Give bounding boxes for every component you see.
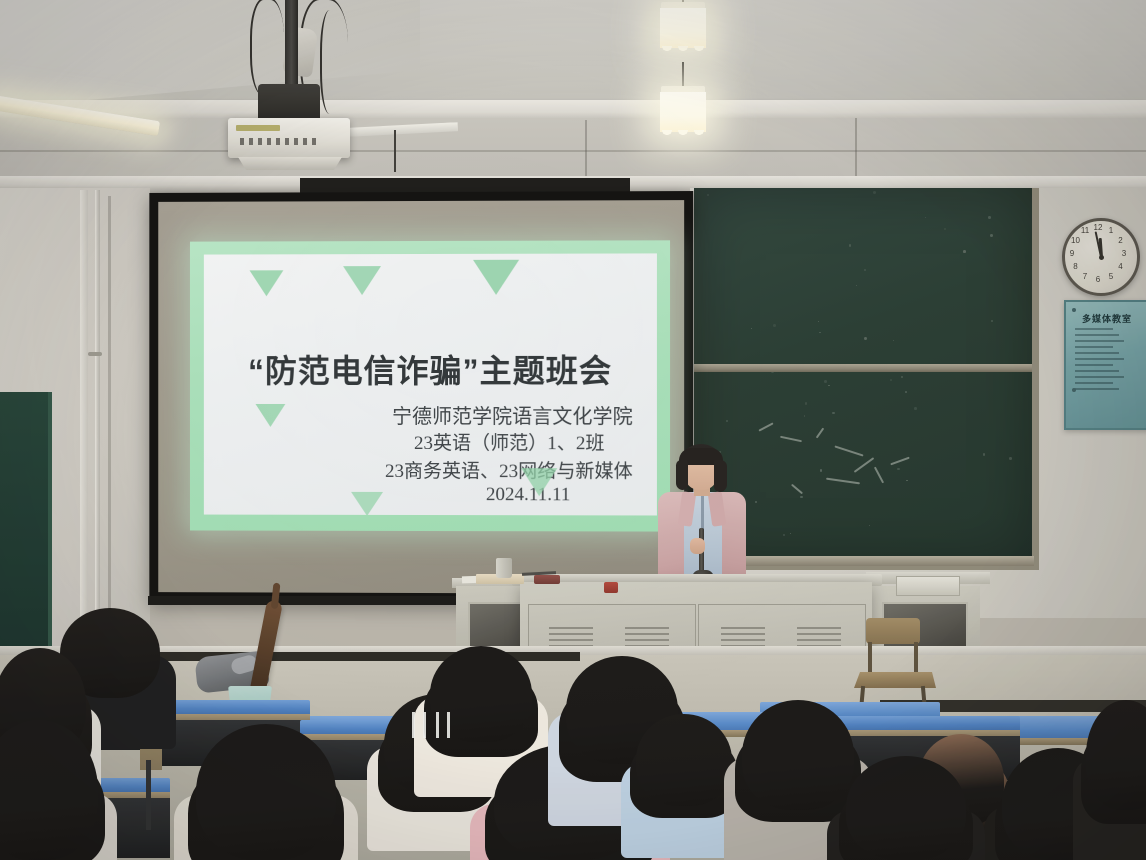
podium-red-cup [604, 582, 618, 593]
chalk-speck [991, 320, 993, 322]
notice-line [1075, 358, 1124, 360]
chalk-mark [874, 467, 884, 484]
chalk-speck [890, 379, 892, 381]
triangle-top-mid-icon [343, 266, 381, 295]
podium-cup [496, 558, 512, 578]
chalk-speck [824, 380, 827, 383]
clock-numeral: 6 [1092, 276, 1104, 284]
projector-mount-bracket [258, 84, 320, 122]
wall-pipe [95, 190, 100, 658]
chalk-speck [897, 468, 900, 471]
projector-screen: “防范电信诈骗”主题班会 宁德师范学院语言文化学院 23英语（师范）1、2班 2… [149, 191, 693, 603]
projector-base [238, 157, 342, 170]
projector-cable [250, 0, 284, 96]
clock-numeral: 4 [1115, 263, 1127, 271]
chalk-speck [1009, 457, 1012, 460]
clock-numeral: 7 [1079, 273, 1091, 281]
notice-line [1075, 334, 1119, 336]
chalk-speck [869, 525, 870, 526]
chalk-speck [804, 415, 806, 417]
hair-clip-icon [410, 712, 454, 738]
wall-seam-vertical-left [585, 120, 587, 180]
teacher-hair-left [676, 460, 688, 490]
chalk-speck [849, 244, 851, 246]
notice-line [1075, 376, 1124, 378]
clock-numeral: 1 [1105, 227, 1117, 235]
student-head [196, 724, 336, 860]
chalk-mark [758, 422, 773, 431]
chalk-speck [963, 250, 966, 253]
clock-numeral: 10 [1069, 237, 1081, 245]
notice-line [1075, 352, 1119, 354]
wall-clock: 121234567891011 [1062, 218, 1140, 296]
pendant-lamp [660, 8, 706, 48]
chalk-speck [905, 391, 907, 393]
chalk-speck [819, 332, 821, 334]
chalk-mark [826, 478, 860, 485]
notice-line [1075, 388, 1119, 390]
podium-eraser [534, 575, 560, 584]
clock-numeral: 3 [1118, 250, 1130, 258]
chalk-speck [988, 216, 991, 219]
left-side-green-board [0, 392, 52, 652]
student-left-pale [0, 720, 98, 860]
notice-line [1075, 382, 1113, 384]
student-head [0, 720, 98, 860]
notice-pin [1072, 308, 1076, 312]
chalk-mark [834, 445, 863, 456]
ceiling-projector [228, 118, 350, 158]
chalk-speck [707, 194, 709, 196]
chair-post [914, 642, 918, 676]
clock-numeral: 9 [1066, 250, 1078, 258]
chair-backrest [866, 618, 920, 644]
desk-leg [146, 760, 151, 830]
chalk-speck [832, 412, 835, 415]
slide-subtitle-institution: 宁德师范学院语言文化学院 [392, 400, 633, 429]
clock-numeral: 11 [1079, 227, 1091, 235]
chalk-speck [773, 324, 776, 327]
chalk-speck [983, 453, 985, 455]
door-handle[interactable] [88, 352, 102, 356]
slide-subtitle-class-1: 23英语（师范）1、2班 [414, 428, 605, 455]
wall-seam-horizontal [0, 150, 1146, 152]
clock-numeral: 2 [1115, 237, 1127, 245]
chalk-speck [893, 340, 894, 341]
teacher-hair-right [714, 460, 727, 492]
chalk-speck [914, 407, 917, 410]
chalk-speck [755, 501, 757, 503]
classroom-photo: 121234567891011 多媒体教室 “防范电信诈骗”主题班会 宁德师范学… [0, 0, 1146, 860]
triangle-top-left-icon [250, 270, 284, 296]
student-head [742, 700, 854, 810]
notice-board-text-lines [1075, 328, 1141, 394]
chalk-speck [864, 337, 867, 340]
projector-mount-pole [285, 0, 298, 92]
chalk-speck [873, 191, 876, 194]
chalk-speck [856, 285, 857, 286]
chalk-speck [864, 269, 865, 270]
student-far-right [1086, 700, 1146, 810]
teacher-hand [690, 538, 705, 554]
podium-tray [896, 576, 960, 596]
wooden-chair[interactable] [852, 618, 938, 710]
chalk-speck [925, 217, 926, 218]
student-center-left-long-hair [196, 724, 336, 860]
pendant-light-lower-icon [660, 62, 706, 142]
pendant-rod [682, 62, 684, 88]
chalk-speck [751, 328, 752, 329]
projector-cable [320, 10, 344, 114]
notice-line [1075, 364, 1113, 366]
student-head [1086, 700, 1146, 810]
student-head [846, 756, 966, 860]
clock-numeral: 5 [1105, 273, 1117, 281]
chalk-speck [820, 469, 822, 471]
chalk-mark [791, 484, 803, 495]
triangle-mid-left-icon [256, 404, 286, 427]
student-gray-sweater [742, 700, 854, 810]
chalk-speck [800, 496, 803, 499]
triangle-bottom-right-icon [521, 468, 557, 496]
notice-line [1075, 346, 1113, 348]
chalk-mark [890, 457, 909, 466]
door-frame [80, 190, 88, 660]
triangle-top-right-icon [473, 260, 519, 295]
chalk-speck [726, 420, 729, 423]
projector-screen-surface: “防范电信诈骗”主题班会 宁德师范学院语言文化学院 23英语（师范）1、2班 2… [158, 200, 684, 594]
chair-post [868, 642, 872, 676]
clock-numeral: 8 [1069, 263, 1081, 271]
wall-pipe-secondary [108, 196, 111, 658]
triangle-bottom-mid-icon [351, 492, 383, 516]
chalk-speck [901, 376, 902, 377]
wall-seam-vertical-right [855, 118, 857, 180]
notice-line [1075, 328, 1113, 330]
chalk-mark [816, 428, 825, 439]
slide-subtitle-class-2: 23商务英语、23网络与新媒体 [385, 456, 633, 483]
notice-line [1075, 340, 1124, 342]
slide-title: “防范电信诈骗”主题班会 [204, 346, 657, 392]
slide-content-panel: “防范电信诈骗”主题班会 宁德师范学院语言文化学院 23英语（师范）1、2班 2… [204, 253, 657, 515]
blackboard-mid-ledge [694, 364, 1032, 372]
chalk-speck [944, 228, 946, 230]
chalk-speck [783, 534, 785, 536]
chalk-speck [990, 234, 993, 237]
chalk-speck [805, 402, 808, 405]
notice-board-title: 多媒体教室 [1066, 312, 1146, 325]
projected-slide: “防范电信诈骗”主题班会 宁德师范学院语言文化学院 23英语（师范）1、2班 2… [190, 240, 670, 531]
notice-pin [1072, 388, 1076, 392]
student-blue-scarf [636, 714, 732, 806]
chalk-speck [790, 533, 791, 534]
notice-board: 多媒体教室 [1064, 300, 1146, 430]
student-mid-back-right [846, 756, 966, 860]
chalk-speck [828, 385, 830, 387]
chalk-speck [818, 321, 819, 322]
notice-line [1075, 370, 1119, 372]
clock-numeral: 12 [1092, 224, 1104, 232]
chalk-mark [780, 436, 802, 443]
chalk-mark [854, 457, 875, 473]
pendant-light-upper-icon [660, 0, 706, 58]
ceiling-fan-stem [394, 130, 396, 172]
student-head [636, 714, 732, 806]
pendant-lamp [660, 92, 706, 132]
chalk-speck [906, 480, 908, 482]
